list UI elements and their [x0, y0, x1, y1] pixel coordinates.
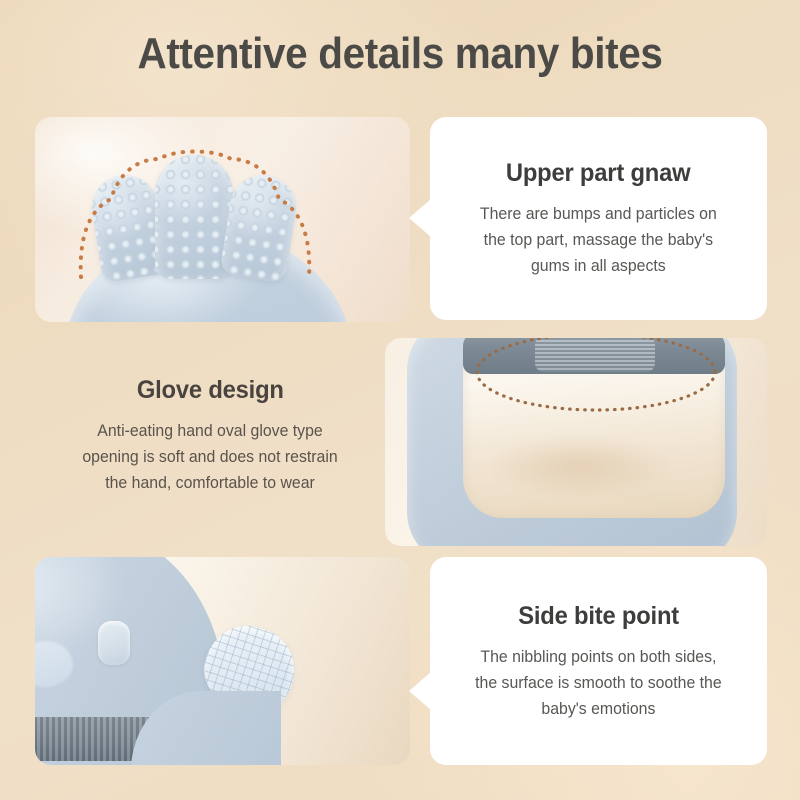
text-card-upper-part-gnaw: Upper part gnaw There are bumps and part…: [430, 117, 767, 320]
glove-ring: [407, 338, 737, 546]
card-pointer-icon: [409, 199, 431, 237]
text-card-glove-design: Glove design Anti-eating hand oval glove…: [38, 360, 383, 510]
hand-blur: [467, 434, 717, 514]
card-title: Side bite point: [518, 601, 679, 631]
card-body-line: There are bumps and particles on: [480, 201, 717, 227]
card-body-line: the surface is smooth to soothe the: [475, 670, 722, 696]
card-body-line: The nibbling points on both sides,: [475, 644, 722, 670]
page-title: Attentive details many bites: [32, 28, 768, 80]
card-body: There are bumps and particles on the top…: [480, 201, 717, 279]
teether-pill-detail: [98, 621, 130, 665]
infographic-page: Attentive details many bites Upper part …: [0, 0, 800, 800]
card-pointer-icon: [409, 672, 431, 710]
card-body-line: baby's emotions: [475, 696, 722, 722]
card-body-line: opening is soft and does not restrain: [83, 444, 338, 470]
glove-grip-bar: [463, 338, 725, 374]
card-body: The nibbling points on both sides, the s…: [475, 644, 722, 722]
card-body-line: Anti-eating hand oval glove type: [83, 418, 338, 444]
card-body: Anti-eating hand oval glove type opening…: [83, 418, 338, 496]
card-body-line: the hand, comfortable to wear: [83, 470, 338, 496]
card-body-line: gums in all aspects: [480, 253, 717, 279]
photo-upper-part-gnaw: [35, 117, 410, 322]
photo-side-bite-point: [35, 557, 410, 765]
card-title: Glove design: [137, 375, 284, 405]
card-body-line: the top part, massage the baby's: [480, 227, 717, 253]
text-card-side-bite-point: Side bite point The nibbling points on b…: [430, 557, 767, 765]
grip-bar-ribs-icon: [535, 338, 655, 372]
photo-glove-design: [385, 338, 767, 546]
card-title: Upper part gnaw: [506, 158, 691, 188]
